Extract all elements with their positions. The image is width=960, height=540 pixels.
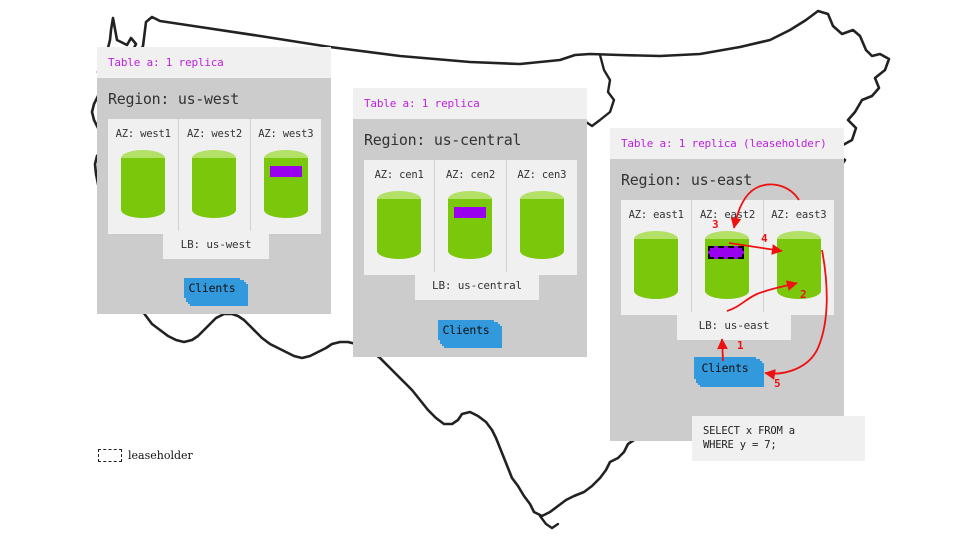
az-cell-cen3[interactable]: AZ: cen3 <box>507 160 577 275</box>
region-header-us-west: Table a: 1 replica <box>97 47 331 78</box>
cylinder-west3 <box>264 150 308 218</box>
clients-label-us-central: Clients <box>438 320 494 340</box>
arrow-label-5: 5 <box>774 377 781 390</box>
az-cell-east2[interactable]: AZ: east2 <box>692 200 763 315</box>
cylinder-cen3 <box>520 191 564 259</box>
legend-label: leaseholder <box>128 449 193 462</box>
region-panel-us-east: Table a: 1 replica (leaseholder) Region:… <box>610 128 844 441</box>
cylinder-east2 <box>705 231 749 299</box>
region-header-us-east: Table a: 1 replica (leaseholder) <box>610 128 844 159</box>
az-cell-west3[interactable]: AZ: west3 <box>251 119 321 234</box>
az-label-east3: AZ: east3 <box>764 209 834 221</box>
load-balancer-us-east[interactable]: LB: us-east <box>677 312 791 340</box>
az-strip-us-west: AZ: west1 AZ: west2 AZ <box>108 119 321 234</box>
replica-marker-cen2 <box>454 207 486 218</box>
region-header-us-central: Table a: 1 replica <box>353 88 587 119</box>
region-title-us-east: Region: us-east <box>621 159 834 200</box>
clients-node-us-central[interactable]: Clients <box>438 320 500 348</box>
sql-query-box: SELECT x FROM a WHERE y = 7; <box>692 416 865 461</box>
load-balancer-us-west[interactable]: LB: us-west <box>163 231 269 259</box>
load-balancer-us-central[interactable]: LB: us-central <box>415 272 539 300</box>
cylinder-cen1 <box>377 191 421 259</box>
leaseholder-marker-east2 <box>708 246 744 259</box>
arrow-label-1: 1 <box>737 339 744 352</box>
az-cell-east1[interactable]: AZ: east1 <box>621 200 692 315</box>
az-strip-us-central: AZ: cen1 AZ: cen2 <box>364 160 577 275</box>
az-cell-cen1[interactable]: AZ: cen1 <box>364 160 435 275</box>
az-cell-east3[interactable]: AZ: east3 <box>764 200 834 315</box>
az-cell-west2[interactable]: AZ: west2 <box>179 119 250 234</box>
region-panel-us-west: Table a: 1 replica Region: us-west AZ: w… <box>97 47 331 314</box>
region-title-us-west: Region: us-west <box>108 78 321 119</box>
cylinder-cen2 <box>448 191 492 259</box>
diagram-canvas: Table a: 1 replica Region: us-west AZ: w… <box>0 0 960 540</box>
az-label-east2: AZ: east2 <box>692 209 762 221</box>
az-label-west3: AZ: west3 <box>251 128 321 140</box>
arrow-label-2: 2 <box>800 288 807 301</box>
arrow-label-3: 3 <box>712 218 719 231</box>
region-title-us-central: Region: us-central <box>364 119 577 160</box>
dashed-rect-icon <box>98 449 122 462</box>
arrow-label-4: 4 <box>761 232 768 245</box>
cylinder-west1 <box>121 150 165 218</box>
az-cell-west1[interactable]: AZ: west1 <box>108 119 179 234</box>
cylinder-east3 <box>777 231 821 299</box>
az-label-west2: AZ: west2 <box>179 128 249 140</box>
cylinder-west2 <box>192 150 236 218</box>
clients-label-us-west: Clients <box>184 278 240 298</box>
az-label-cen3: AZ: cen3 <box>507 169 577 181</box>
cylinder-east1 <box>634 231 678 299</box>
region-panel-us-central: Table a: 1 replica Region: us-central AZ… <box>353 88 587 357</box>
legend: leaseholder <box>98 449 193 462</box>
az-label-cen2: AZ: cen2 <box>435 169 505 181</box>
az-label-west1: AZ: west1 <box>108 128 178 140</box>
az-cell-cen2[interactable]: AZ: cen2 <box>435 160 506 275</box>
az-label-cen1: AZ: cen1 <box>364 169 434 181</box>
clients-node-us-west[interactable]: Clients <box>184 278 246 306</box>
replica-marker-west3 <box>270 166 302 177</box>
clients-node-us-east[interactable]: Clients <box>694 357 764 385</box>
az-label-east1: AZ: east1 <box>621 209 691 221</box>
clients-label-us-east: Clients <box>694 357 756 379</box>
